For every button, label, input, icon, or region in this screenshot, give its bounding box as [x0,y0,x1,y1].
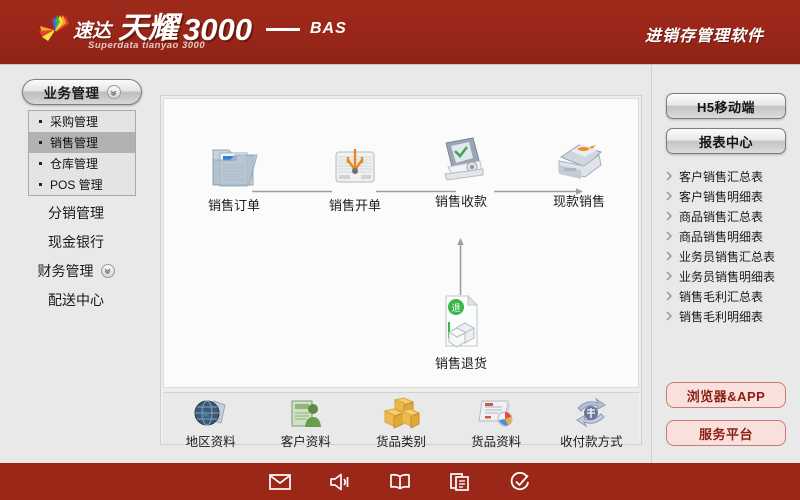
sidebar-group-label: 业务管理 [44,82,100,102]
quick-access-icon-row: 地区资料 [163,392,639,444]
quick-icon-goods-data[interactable]: 货品资料 [452,396,540,450]
workflow-node-label: 销售退货 [418,353,504,372]
bullet-icon [39,162,42,165]
service-platform-label: 服务平台 [699,424,753,443]
sidebar-item-sales[interactable]: 销售管理 [29,132,135,153]
cash-printer-icon [536,133,622,189]
workflow-node-sales-invoice[interactable]: 销售开单 [312,137,398,214]
report-item-label: 业务员销售明细表 [679,268,775,285]
sidebar-item-label: 配送中心 [48,290,104,310]
chevron-down-icon [107,85,121,99]
workflow-node-sales-receipt[interactable]: 销售收款 [418,133,504,210]
workflow-node-label: 销售订单 [191,195,277,214]
center-panel: 销售订单 [160,95,642,445]
report-item-gross-profit-summary[interactable]: 销售毛利汇总表 [666,286,798,306]
folder-document-icon [191,137,277,193]
chevron-right-icon [666,291,673,301]
workflow-node-label: 销售开单 [312,195,398,214]
invoice-device-icon [312,137,398,193]
workflow-node-cash-sale[interactable]: 现款销售 [536,133,622,210]
bullet-icon [39,183,42,186]
report-item-label: 商品销售汇总表 [679,208,763,225]
sidebar-item-warehouse[interactable]: 仓库管理 [29,153,135,174]
report-item-customer-sales-summary[interactable]: 客户销售汇总表 [666,166,798,186]
report-item-salesperson-sales-summary[interactable]: 业务员销售汇总表 [666,246,798,266]
report-list: 客户销售汇总表 客户销售明细表 商品销售汇总表 商品销售明细表 业务员销售汇总表 [666,166,798,326]
quick-icon-label: 货品资料 [452,431,540,450]
bullet-icon [39,120,42,123]
body-area: 业务管理 采购管理 销售管理 [0,64,800,463]
application-window: 速达 天耀 3000 BAS Superdata tianyao 3000 进销… [0,0,800,500]
workflow-node-label: 现款销售 [536,191,622,210]
flow-arrow-return [455,237,466,295]
browser-app-label: 浏览器&APP [687,386,766,405]
goods-report-icon [452,396,540,430]
sidebar-item-delivery-center[interactable]: 配送中心 [0,285,152,314]
quick-icon-label: 收付款方式 [547,431,635,450]
quick-icon-label: 货品类别 [357,431,445,450]
chevron-right-icon [666,191,673,201]
chevron-right-icon [666,271,673,281]
sidebar-main-menu: 分销管理 现金银行 财务管理 配送中心 [0,198,152,314]
sidebar-item-finance[interactable]: 财务管理 [0,256,152,285]
sidebar-item-purchase[interactable]: 采购管理 [29,111,135,132]
boxes-icon [357,396,445,430]
report-item-label: 商品销售明细表 [679,228,763,245]
sidebar-item-label: POS 管理 [50,176,103,193]
report-item-salesperson-sales-detail[interactable]: 业务员销售明细表 [666,266,798,286]
chevron-right-icon [666,311,673,321]
payment-arrows-icon [547,396,635,430]
card-reader-icon [418,133,504,189]
return-document-icon: 退 [418,291,504,351]
report-item-product-sales-detail[interactable]: 商品销售明细表 [666,226,798,246]
chevron-right-icon [666,211,673,221]
sidebar-group-button-business[interactable]: 业务管理 [22,79,142,105]
workflow-diagram: 销售订单 [163,98,639,388]
sidebar-item-label: 分销管理 [48,203,104,223]
h5-mobile-label: H5移动端 [697,97,755,116]
sidebar-item-label: 仓库管理 [50,155,98,172]
sidebar-submenu: 采购管理 销售管理 仓库管理 POS 管理 [28,110,136,196]
sidebar-item-label: 销售管理 [50,134,98,151]
report-item-label: 业务员销售汇总表 [679,248,775,265]
workflow-node-sales-order[interactable]: 销售订单 [191,137,277,214]
quick-icon-label: 客户资料 [262,431,350,450]
report-item-gross-profit-detail[interactable]: 销售毛利明细表 [666,306,798,326]
workflow-node-sales-return[interactable]: 退 销售退货 [418,291,504,372]
quick-icon-region-data[interactable]: 地区资料 [167,396,255,450]
sidebar-item-label: 采购管理 [50,113,98,130]
bottom-taskbar [0,463,800,500]
report-item-product-sales-summary[interactable]: 商品销售汇总表 [666,206,798,226]
copy-icon[interactable] [446,471,474,493]
customer-icon [262,396,350,430]
app-header: 速达 天耀 3000 BAS Superdata tianyao 3000 进销… [0,0,800,64]
report-item-label: 销售毛利汇总表 [679,288,763,305]
right-panel: H5移动端 报表中心 客户销售汇总表 客户销售明细表 商品销售汇总表 [651,65,800,464]
workflow-node-label: 销售收款 [418,191,504,210]
service-platform-button[interactable]: 服务平台 [666,420,786,446]
quick-icon-goods-category[interactable]: 货品类别 [357,396,445,450]
header-tagline: 进销存管理软件 [645,22,764,46]
report-item-label: 客户销售汇总表 [679,168,763,185]
report-center-button[interactable]: 报表中心 [666,128,786,154]
butterfly-logo-icon [36,14,72,44]
left-sidebar: 业务管理 采购管理 销售管理 [0,65,152,464]
chevron-right-icon [666,231,673,241]
chevron-right-icon [666,171,673,181]
quick-icon-customer-data[interactable]: 客户资料 [262,396,350,450]
svg-text:退: 退 [451,303,460,314]
chevron-down-icon[interactable] [101,264,115,278]
logo-bas-text: BAS [310,20,347,38]
sidebar-item-pos[interactable]: POS 管理 [29,174,135,195]
quick-icon-payment-method[interactable]: 收付款方式 [547,396,635,450]
sidebar-item-label: 财务管理 [38,261,94,281]
speaker-icon[interactable] [326,471,354,493]
report-item-label: 销售毛利明细表 [679,308,763,325]
report-center-label: 报表中心 [699,132,753,151]
report-item-customer-sales-detail[interactable]: 客户销售明细表 [666,186,798,206]
browser-app-button[interactable]: 浏览器&APP [666,382,786,408]
check-circle-icon[interactable] [506,471,534,493]
sidebar-item-label: 现金银行 [48,232,104,252]
logo-speeda-text: 速达 [73,16,111,43]
report-item-label: 客户销售明细表 [679,188,763,205]
bullet-icon [39,141,42,144]
sidebar-item-distribution[interactable]: 分销管理 [0,198,152,227]
globe-icon [167,396,255,430]
logo-divider-dash [266,28,300,31]
book-icon[interactable] [386,471,414,493]
quick-icon-label: 地区资料 [167,431,255,450]
chevron-right-icon [666,251,673,261]
mail-icon[interactable] [266,471,294,493]
h5-mobile-button[interactable]: H5移动端 [666,93,786,119]
logo-subtitle: Superdata tianyao 3000 [88,40,205,51]
sidebar-item-cash-bank[interactable]: 现金银行 [0,227,152,256]
